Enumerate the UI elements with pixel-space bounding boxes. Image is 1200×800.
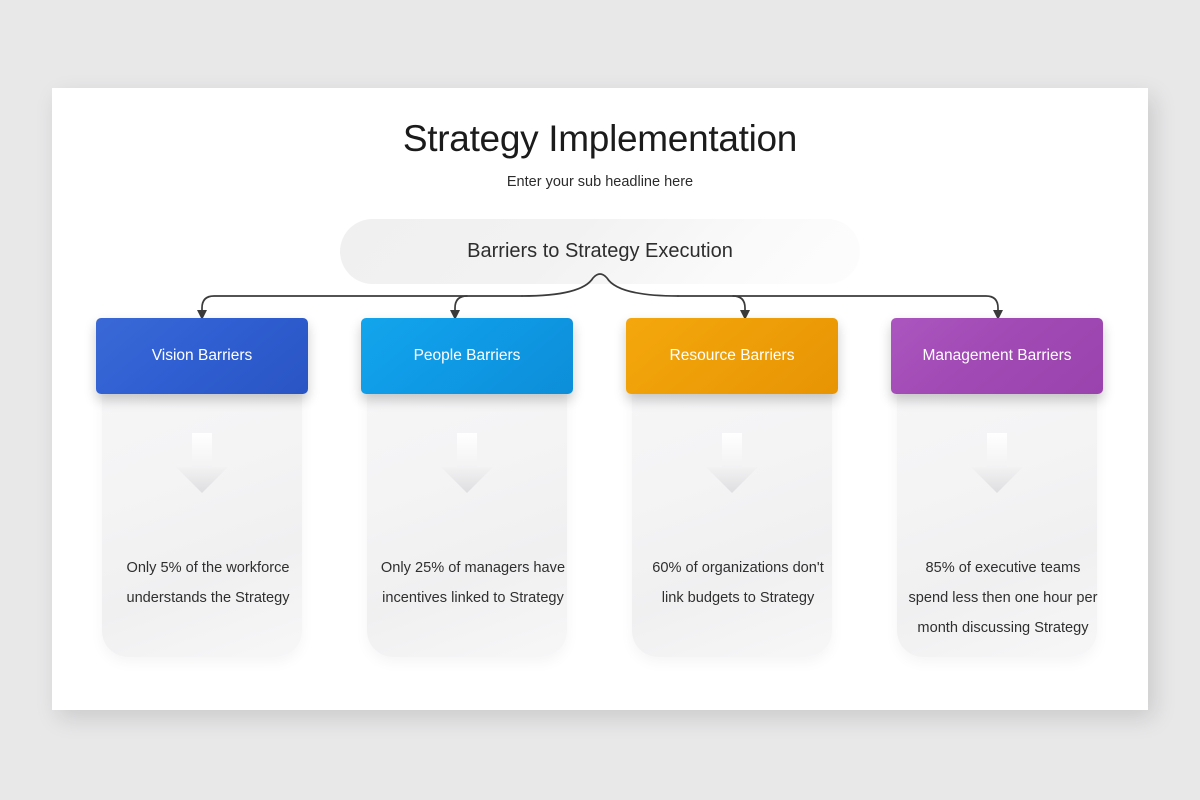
branch-card-label: People Barriers [414,345,521,367]
page-subtitle: Enter your sub headline here [52,174,1148,190]
slide-header: Strategy Implementation Enter your sub h… [52,88,1148,190]
branch-description: 85% of executive teams spend less then o… [905,553,1101,643]
branch-description: 60% of organizations don't link budgets … [640,553,836,613]
slide-canvas: Strategy Implementation Enter your sub h… [52,88,1148,710]
branch-panel: Only 25% of managers have incentives lin… [367,375,567,657]
branch-panel: Only 5% of the workforce understands the… [102,375,302,657]
branch-card-management[interactable]: Management Barriers [891,318,1103,394]
branch-panel: 60% of organizations don't link budgets … [632,375,832,657]
branch-card-label: Vision Barriers [152,345,253,367]
branch-description: Only 5% of the workforce understands the… [110,553,306,613]
root-node-label: Barriers to Strategy Execution [467,240,733,263]
branch-card-label: Management Barriers [922,345,1071,367]
branch-card-people[interactable]: People Barriers [361,318,573,394]
branch-card-label: Resource Barriers [670,345,795,367]
down-arrow-icon [174,433,230,495]
branch-card-vision[interactable]: Vision Barriers [96,318,308,394]
down-arrow-icon [969,433,1025,495]
branch-description: Only 25% of managers have incentives lin… [375,553,571,613]
branch-panel: 85% of executive teams spend less then o… [897,375,1097,657]
down-arrow-icon [439,433,495,495]
page-title: Strategy Implementation [52,118,1148,161]
branch-card-resource[interactable]: Resource Barriers [626,318,838,394]
branch-columns: Only 5% of the workforce understands the… [52,318,1148,658]
down-arrow-icon [704,433,760,495]
